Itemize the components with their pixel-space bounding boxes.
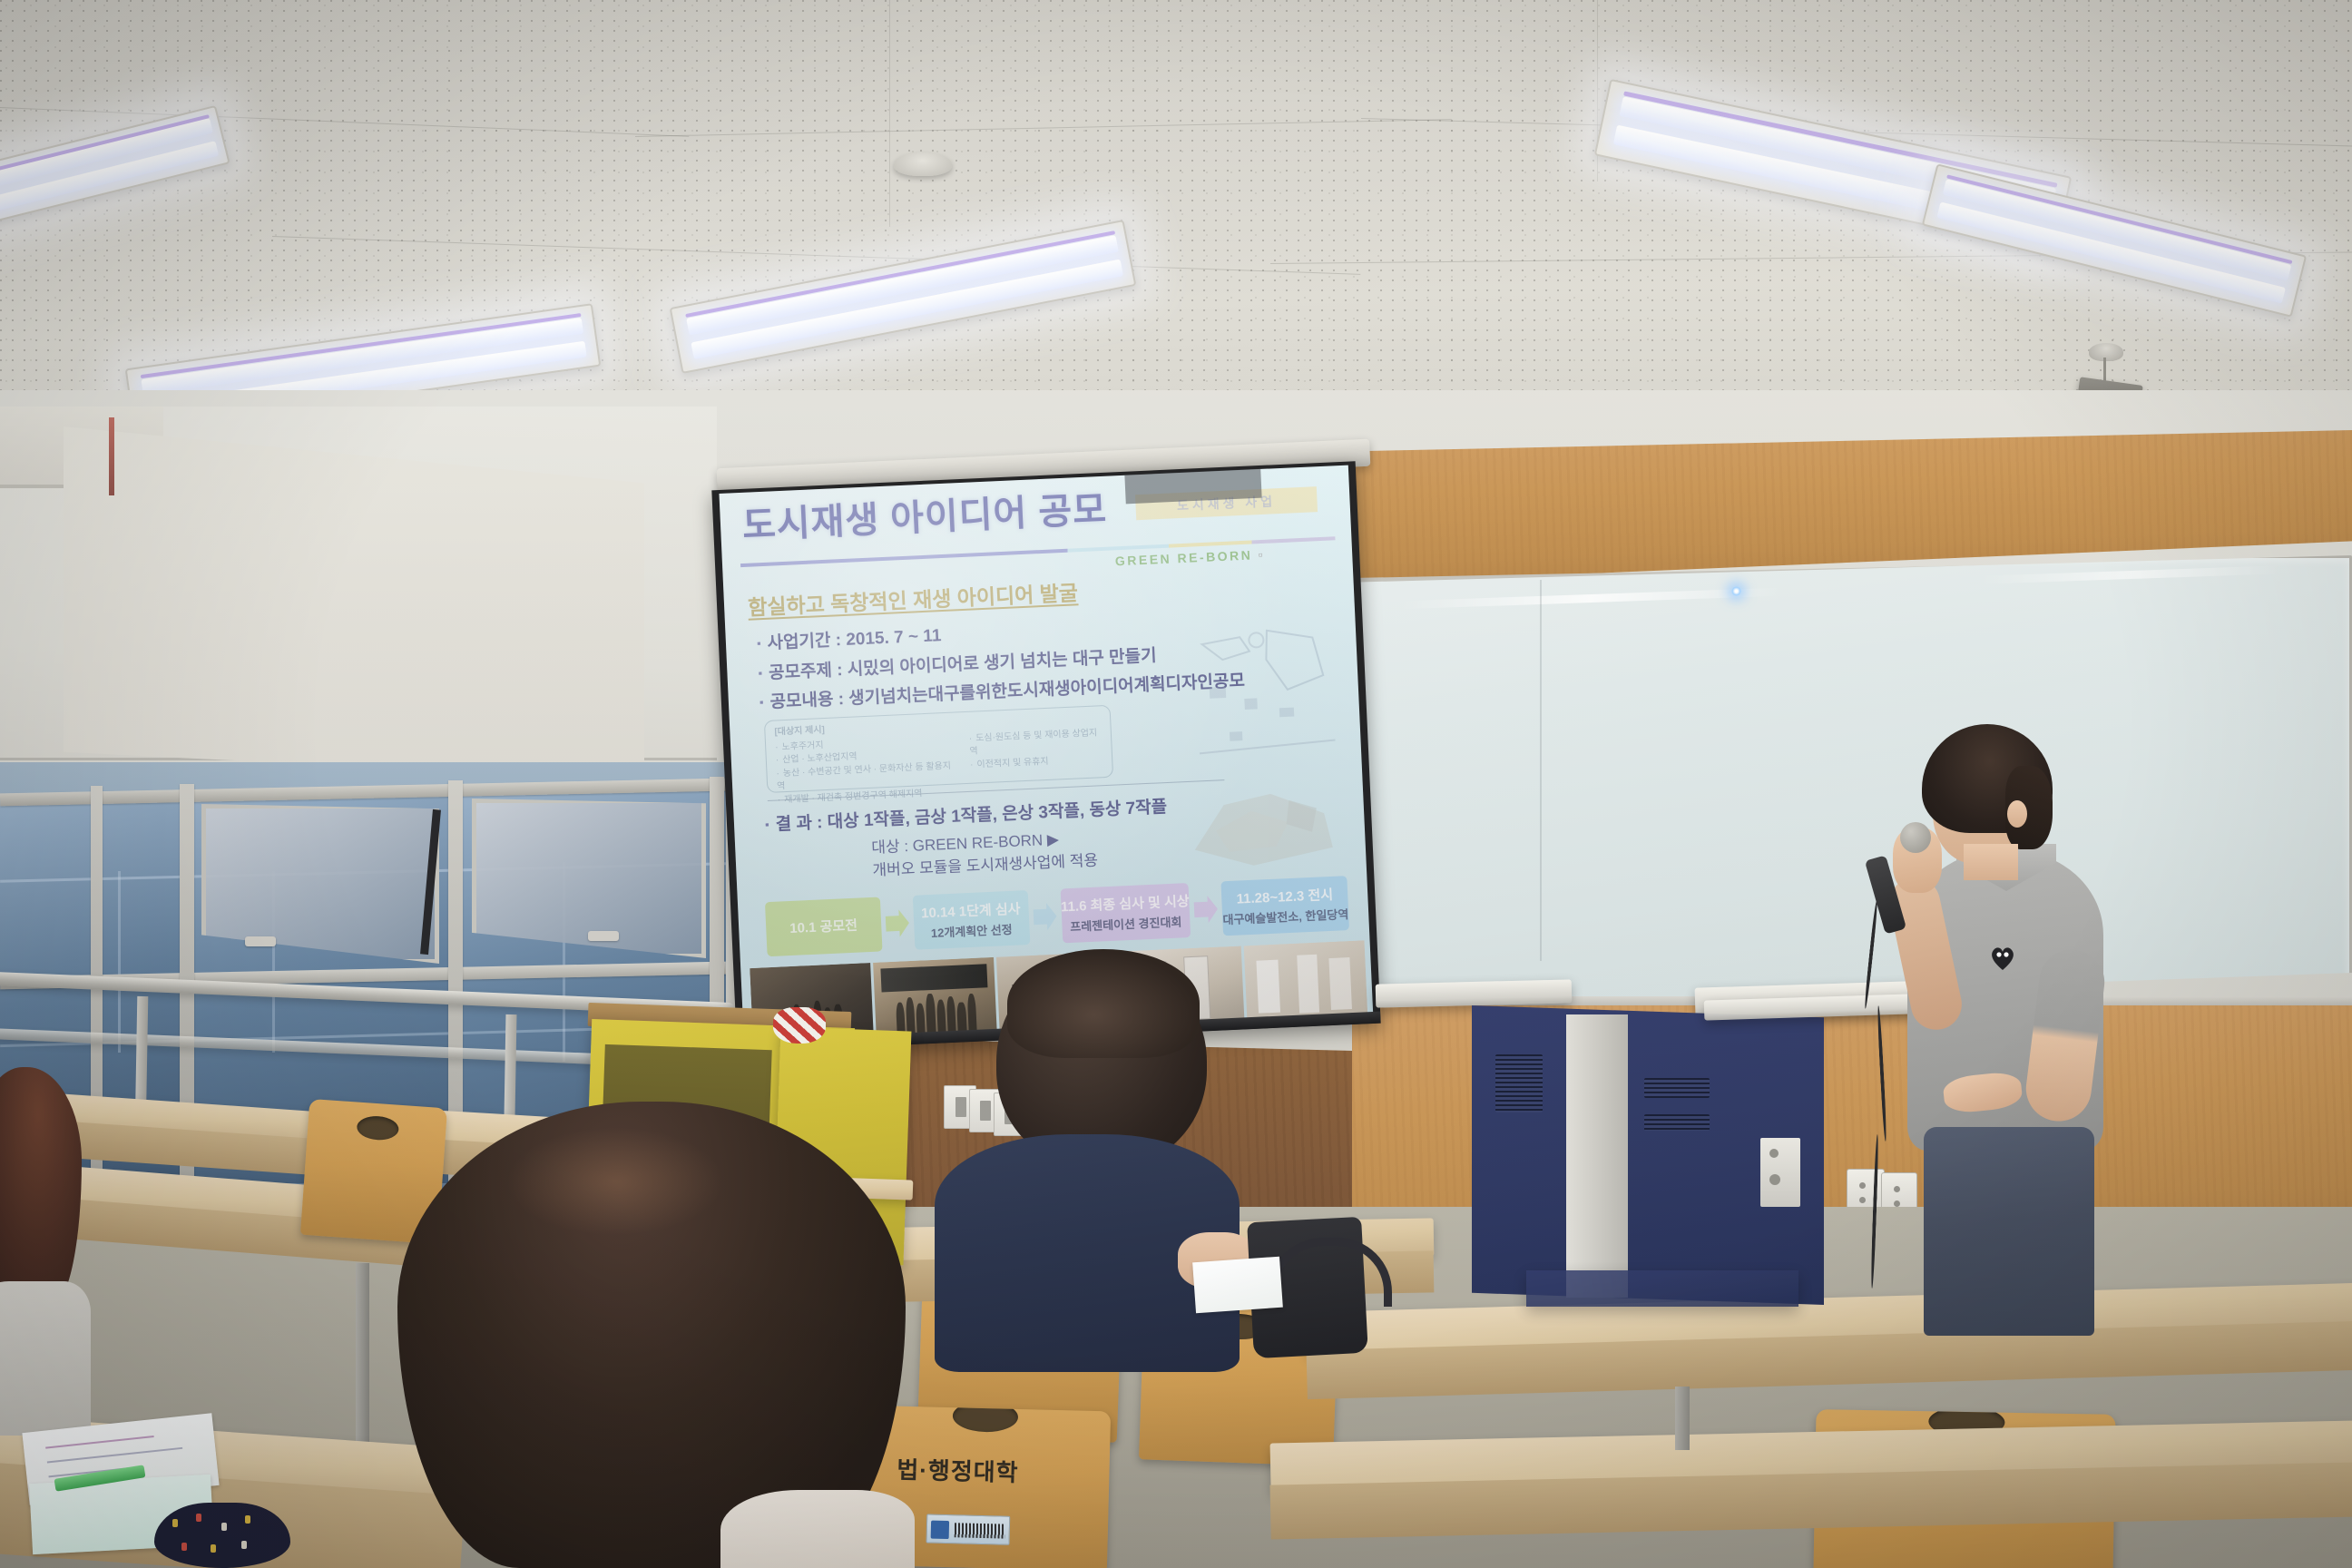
chair-handle-hole [953,1406,1019,1433]
exterior-building-line [118,871,121,1053]
smoke-detector-icon [894,152,952,176]
whiteboard-panel-seam [1540,580,1542,961]
classroom-photo-scene: 도시재생 아이디어 공모 도시재생 사업 GREEN RE-BORN ▫ 함실하… [0,0,2352,1568]
flow-step-line1: 11.28~12.3 전시 [1236,885,1333,908]
audience-female-shoulder [720,1490,915,1568]
flow-step-line1: 10.1 공모전 [789,915,858,936]
photo-poster [1298,955,1319,1014]
paper-text-line [45,1436,154,1449]
papers-on-desk[interactable] [1192,1257,1283,1314]
slide-brand-green-text: GREEN RE-BORN [1115,547,1253,568]
slide-brand-logo: GREEN RE-BORN ▫ [1115,547,1266,568]
paper-text-line [47,1447,182,1464]
flow-step: 10.1 공모전 [765,897,882,956]
outlet-hole [1859,1197,1866,1203]
striped-cloth [773,1007,826,1044]
flow-step-line2: 프레젠테이션 경진대회 [1070,912,1182,935]
podium-base [1526,1270,1798,1307]
pencil-case[interactable] [154,1503,290,1568]
laser-pointer-dot [1731,586,1741,596]
slide-rendering-graphic [1187,779,1343,874]
podium-top-left-wing [1376,979,1573,1007]
window-handle[interactable] [588,931,619,941]
screen-case-shadow [1124,469,1261,505]
slide-bullet-list: 사업기간 : 2015. 7 ~ 11 공모주제 : 시밌의 아이디어로 생기 … [756,608,1245,719]
flow-arrow-icon [885,909,909,937]
blind-pull-cord[interactable] [109,417,114,495]
whiteboard [1343,555,2352,1009]
audience-female-long-hair [397,1102,915,1568]
chair-inventory-tag [926,1514,1011,1545]
desk-leg [1675,1387,1690,1450]
whiteboard-glare [1400,588,1781,610]
podium-vent [1495,1054,1543,1112]
flow-step-line2: 대구예슬발전소, 한일당역 [1222,905,1349,927]
flow-arrow-icon [1033,903,1057,931]
photo-poster [1328,957,1351,1010]
ceiling-mount [2089,343,2123,361]
flow-arrow-icon [1193,896,1218,924]
audience-foreground-left [0,1067,91,1430]
podium-port[interactable] [1769,1149,1779,1158]
outlet-hole [1859,1182,1866,1189]
slide-subtitle: 함실하고 독창적인 재생 아이디어 발굴 [747,575,1078,621]
audience-male-hair-crown [1007,949,1200,1058]
podium-vent [1644,1114,1710,1131]
roller-blind[interactable] [64,426,644,780]
slide-detail-box: [대상지 제시] 노후주거지 산업 · 노후산업지역 농산 · 수변공간 및 연… [764,705,1113,793]
presenter-trousers [1924,1127,2094,1336]
presenter-ear [2007,800,2027,828]
microphone-head [1900,822,1931,853]
chair-handle-hole [356,1115,399,1142]
presenter [1869,717,2141,1334]
audience-left-shoulder [0,1281,91,1436]
window-handle[interactable] [245,936,276,946]
flow-step: 11.28~12.3 전시 대구예슬발전소, 한일당역 [1221,876,1349,936]
podium-connector-panel[interactable] [1760,1138,1800,1207]
podium-center-strip [1566,1014,1628,1298]
flow-step: 10.14 1단계 심사 12개계획안 선정 [913,890,1030,950]
podium-vent [1644,1078,1710,1098]
flow-step-line1: 10.14 1단계 심사 [921,898,1021,922]
podium-port[interactable] [1769,1174,1780,1185]
audience-left-hair [0,1067,82,1303]
ceiling-seam [889,0,890,227]
slide-brand-mark: ▫ [1258,547,1265,562]
flow-step-line2: 12개계획안 선정 [930,920,1013,941]
presenter-neck [1964,844,2018,880]
shirt-heart-logo-icon [1989,946,2016,971]
audience-female-hair-highlight [506,1127,724,1236]
slide-map-graphic [1184,611,1346,781]
flow-step: 11.6 최종 심사 및 시상 프레젠테이션 경진대회 [1060,883,1191,943]
whiteboard-glare [1981,565,2280,584]
slide-award-block: 대상 : GREEN RE-BORN ▶ 개버오 모듈을 도시재생사업에 적용 [871,828,1099,883]
